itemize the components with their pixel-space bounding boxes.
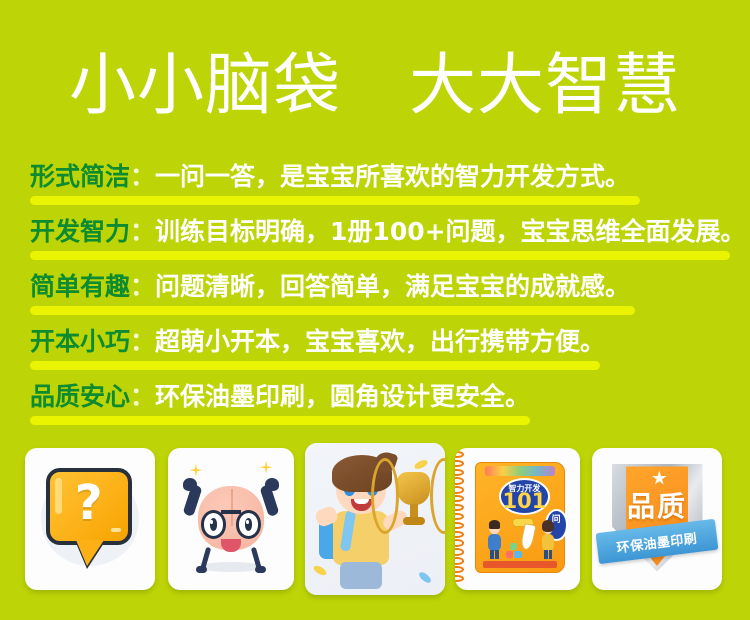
bubble-shape: ?	[46, 468, 132, 545]
page-title: 小小脑袋 大大智慧	[69, 44, 681, 126]
feature-label-1: 形式简洁	[30, 162, 130, 191]
book-top-banner	[485, 466, 555, 476]
feature-underline-1	[30, 196, 640, 205]
feature-underline-5	[30, 416, 530, 425]
card-brain-character	[168, 448, 294, 590]
book-number: 101	[501, 491, 548, 512]
poster-root: 小小脑袋 大大智慧 形式简洁：一问一答，是宝宝所喜欢的智力开发方式。 开发智力：…	[0, 0, 750, 620]
quality-ribbon-text: 环保油墨印刷	[596, 525, 717, 558]
book-spiral-binding	[455, 451, 464, 587]
feature-row-3: 简单有趣：问题清晰，回答简单，满足宝宝的成就感。	[0, 268, 750, 323]
feature-row-2: 开发智力：训练目标明确，1册100+问题，宝宝思维全面发展。	[0, 213, 750, 268]
feature-text-1: 形式简洁：一问一答，是宝宝所喜欢的智力开发方式。	[30, 158, 630, 196]
feature-separator-1: ：	[130, 162, 155, 191]
sparkle-left-icon	[189, 464, 202, 477]
feature-label-5: 品质安心	[30, 382, 130, 411]
feature-text-3: 简单有趣：问题清晰，回答简单，满足宝宝的成就感。	[30, 268, 630, 306]
book-title-badge: 智力开发 101	[499, 478, 550, 515]
kid-right-hair	[542, 520, 554, 531]
feature-separator-5: ：	[130, 382, 155, 411]
feature-label-3: 简单有趣	[30, 272, 130, 301]
book-illustration: 智力开发 101 问	[455, 448, 580, 590]
brain-foot-right	[255, 566, 266, 573]
feature-underline-4	[30, 361, 600, 370]
kid-right-leg-a	[544, 550, 548, 559]
kid-left-leg-b	[495, 550, 499, 559]
feature-description-5: 环保油墨印刷，圆角设计更安全。	[155, 382, 530, 411]
quality-shield-icon: 品质 环保油墨印刷	[592, 448, 722, 590]
glasses-icon	[201, 510, 261, 538]
pencil-icon	[519, 523, 536, 551]
feature-row-1: 形式简洁：一问一答，是宝宝所喜欢的智力开发方式。	[0, 158, 750, 213]
brain-shadow	[198, 562, 264, 572]
brain-foot-left	[196, 566, 207, 573]
glasses-lens-right	[236, 510, 261, 538]
sparkle-right-icon	[260, 461, 273, 474]
feature-label-2: 开发智力	[30, 217, 130, 246]
feature-description-4: 超萌小开本，宝宝喜欢，出行携带方便。	[155, 327, 605, 356]
feature-separator-2: ：	[130, 217, 155, 246]
feature-text-4: 开本小巧：超萌小开本，宝宝喜欢，出行携带方便。	[30, 323, 605, 361]
feature-description-1: 一问一答，是宝宝所喜欢的智力开发方式。	[155, 162, 630, 191]
brain-thumb-left	[183, 478, 197, 491]
card-strip: ?	[0, 443, 750, 595]
feature-label-4: 开本小巧	[30, 327, 130, 356]
feature-row-5: 品质安心：环保油墨印刷，圆角设计更安全。	[0, 378, 750, 433]
feature-description-3: 问题清晰，回答简单，满足宝宝的成就感。	[155, 272, 630, 301]
quality-main-text: 品质	[592, 485, 722, 525]
feature-underline-2	[30, 251, 730, 260]
book-kid-right	[538, 522, 557, 559]
feature-separator-3: ：	[130, 272, 155, 301]
glasses-lens-left	[201, 510, 226, 538]
book-bottom-strip	[483, 561, 557, 568]
confetti-1	[413, 459, 429, 471]
speech-bubble-icon: ?	[25, 448, 155, 590]
page-title-wrap: 小小脑袋 大大智慧	[0, 44, 750, 126]
feature-underline-3	[30, 306, 635, 315]
kid-left-hair	[489, 520, 501, 528]
trophy-handle-left	[371, 458, 399, 534]
card-quality-badge: 品质 环保油墨印刷	[592, 448, 722, 590]
feature-row-4: 开本小巧：超萌小开本，宝宝喜欢，出行携带方便。	[0, 323, 750, 378]
trophy-cup-icon	[397, 472, 429, 505]
feature-text-5: 品质安心：环保油墨印刷，圆角设计更安全。	[30, 378, 530, 416]
card-book-cover: 智力开发 101 问	[455, 448, 580, 590]
kid-right-body	[542, 534, 554, 550]
feature-separator-4: ：	[130, 327, 155, 356]
card-boy-trophy	[305, 443, 445, 595]
card-question-bubble: ?	[25, 448, 155, 590]
feature-list: 形式简洁：一问一答，是宝宝所喜欢的智力开发方式。 开发智力：训练目标明确，1册1…	[0, 158, 750, 433]
book-kid-left	[485, 522, 504, 559]
brain-icon	[168, 448, 294, 590]
kid-right-leg-b	[549, 550, 553, 559]
trophy-handle-right	[430, 458, 445, 534]
boy-jeans	[340, 562, 382, 589]
kid-left-body	[488, 534, 500, 550]
confetti-2	[313, 564, 329, 577]
feature-description-2: 训练目标明确，1册100+问题，宝宝思维全面发展。	[155, 217, 746, 246]
kid-left-leg-a	[490, 550, 494, 559]
brain-thumb-right	[265, 478, 279, 491]
book-body: 智力开发 101 问	[475, 462, 565, 573]
confetti-3	[418, 571, 433, 585]
feature-text-2: 开发智力：训练目标明确，1册100+问题，宝宝思维全面发展。	[30, 213, 746, 251]
question-mark-glyph: ?	[50, 475, 128, 531]
building-blocks-icon	[506, 543, 522, 558]
trophy-base	[403, 517, 425, 525]
boy-trophy-illustration	[305, 443, 445, 595]
